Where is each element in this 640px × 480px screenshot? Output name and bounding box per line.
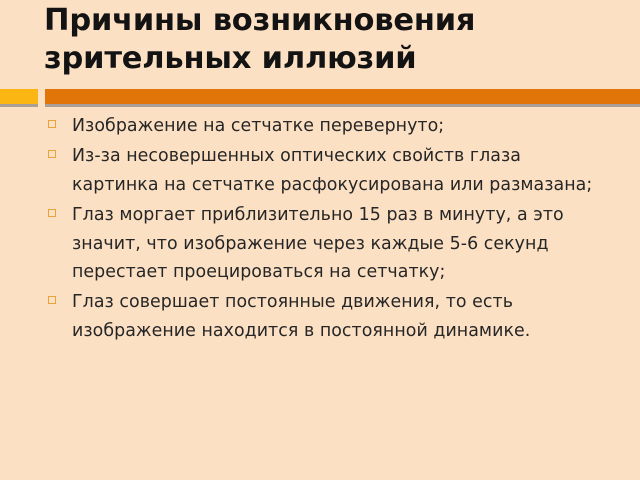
list-item-text: Глаз моргает приблизительно 15 раз в мин… — [72, 201, 612, 286]
list-item: Изображение на сетчатке перевернуто; — [44, 112, 612, 140]
divider-bar-shadow — [45, 104, 640, 107]
title-divider — [0, 88, 640, 107]
list-item: Глаз совершает постоянные движения, то е… — [44, 288, 612, 345]
list-item: Из-за несовершенных оптических свойств г… — [44, 142, 612, 199]
slide: Причины возникновения зрительных иллюзий… — [0, 0, 640, 480]
square-bullet-icon — [48, 209, 56, 217]
divider-accent-tab — [0, 89, 38, 104]
list-item-text: Из-за несовершенных оптических свойств г… — [72, 142, 612, 199]
title-line-2: зрительных иллюзий — [44, 40, 604, 78]
bullet-list: Изображение на сетчатке перевернуто; Из-… — [44, 112, 612, 347]
square-bullet-icon — [48, 296, 56, 304]
list-item-text: Изображение на сетчатке перевернуто; — [72, 112, 612, 140]
list-item-text: Глаз совершает постоянные движения, то е… — [72, 288, 612, 345]
title-line-1: Причины возникновения — [44, 2, 604, 40]
divider-bar — [45, 89, 640, 104]
square-bullet-icon — [48, 150, 56, 158]
list-item: Глаз моргает приблизительно 15 раз в мин… — [44, 201, 612, 286]
divider-accent-tab-shadow — [0, 104, 38, 107]
page-title: Причины возникновения зрительных иллюзий — [44, 2, 604, 78]
square-bullet-icon — [48, 120, 56, 128]
